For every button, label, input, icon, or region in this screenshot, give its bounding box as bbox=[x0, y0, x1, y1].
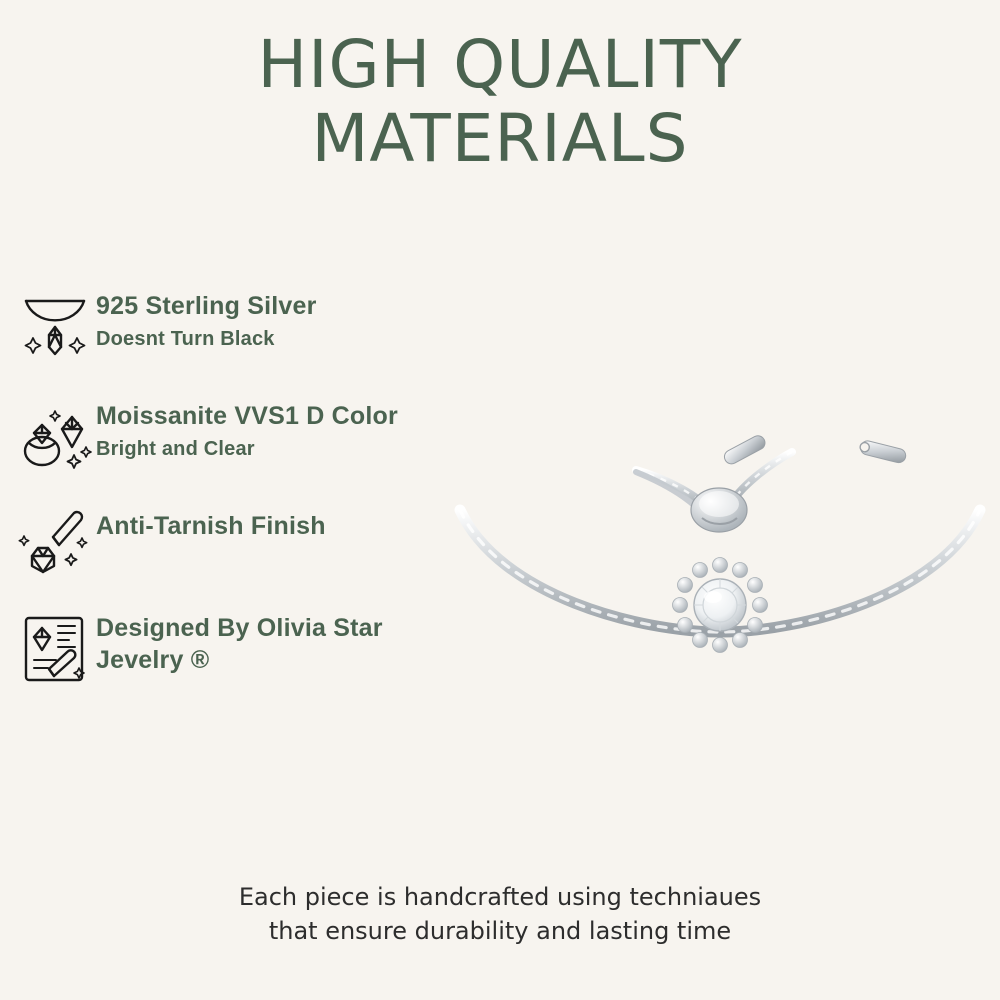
feature-title: 925 Sterling Silver bbox=[96, 290, 317, 322]
footer-line1: Each piece is handcrafted using techniau… bbox=[0, 880, 1000, 914]
product-image bbox=[440, 360, 1000, 660]
page-title-line2: MATERIALS bbox=[0, 102, 1000, 176]
polishing-gem-icon bbox=[14, 508, 96, 578]
feature-subtitle: Doesnt Turn Black bbox=[96, 326, 317, 352]
infographic-page: HIGH QUALITY MATERIALS 925 Sterling Silv bbox=[0, 0, 1000, 1000]
feature-title-line2: Jevelry ® bbox=[96, 644, 383, 676]
footer-line2: that ensure durability and lasting time bbox=[0, 914, 1000, 948]
feature-item-sterling-silver: 925 Sterling Silver Doesnt Turn Black bbox=[14, 288, 554, 366]
feature-title: Anti-Tarnish Finish bbox=[96, 510, 326, 542]
feature-text: 925 Sterling Silver Doesnt Turn Black bbox=[96, 288, 317, 352]
necklace-pendant-icon bbox=[14, 288, 96, 366]
jewelry-design-sketch-icon bbox=[14, 610, 96, 688]
feature-text: Moissanite VVS1 D Color Bright and Clear bbox=[96, 398, 398, 462]
feature-subtitle: Bright and Clear bbox=[96, 436, 398, 462]
gemstone-ring-icon bbox=[14, 398, 96, 476]
feature-text: Designed By Olivia Star Jevelry ® bbox=[96, 610, 383, 676]
page-title-line1: HIGH QUALITY bbox=[0, 28, 1000, 102]
feature-text: Anti-Tarnish Finish bbox=[96, 508, 326, 546]
page-title: HIGH QUALITY MATERIALS bbox=[0, 28, 1000, 176]
footer-note: Each piece is handcrafted using techniau… bbox=[0, 880, 1000, 948]
feature-title: Designed By Olivia Star bbox=[96, 612, 383, 644]
feature-title: Moissanite VVS1 D Color bbox=[96, 400, 398, 432]
